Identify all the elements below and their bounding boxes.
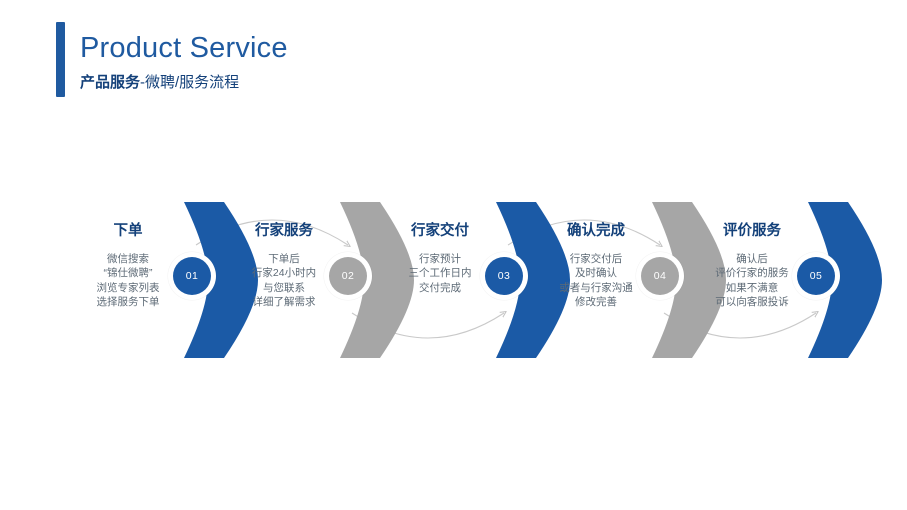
flow-step-3-badge[interactable]: 03 [480,252,528,300]
flow-step-4-badge[interactable]: 04 [636,252,684,300]
flow-step-5-text: 评价服务 确认后 评价行家的服务 如果不满意 可以向客服投诉 [696,224,808,310]
flow-step-5-description: 确认后 评价行家的服务 如果不满意 可以向客服投诉 [696,252,808,310]
flow-step-2[interactable]: 行家服务 下单后 行家24小时内 与您联系 详细了解需求 02 [228,190,388,370]
flow-step-4-line-1: 行家交付后 [540,252,652,267]
flow-step-4-line-3: 或者与行家沟通 [540,281,652,296]
flow-step-2-title: 行家服务 [228,224,340,239]
page-header: Product Service 产品服务-微聘/服务流程 [56,22,616,100]
flow-step-4-line-4: 修改完善 [540,295,652,310]
flow-step-2-badge-disc: 02 [329,257,367,295]
flow-step-4[interactable]: 确认完成 行家交付后 及时确认 或者与行家沟通 修改完善 04 [540,190,700,370]
page-title: Product Service [80,34,288,63]
header-accent-bar [56,22,65,97]
page-subtitle: 产品服务-微聘/服务流程 [80,75,239,91]
flow-step-2-badge[interactable]: 02 [324,252,372,300]
flow-step-4-description: 行家交付后 及时确认 或者与行家沟通 修改完善 [540,252,652,310]
flow-step-1[interactable]: 下单 微信搜索 “锦仕微聘” 浏览专家列表 选择服务下单 01 [72,190,232,370]
flow-step-3-number: 03 [498,271,510,282]
flow-step-4-number: 04 [654,271,666,282]
flow-step-5-badge[interactable]: 05 [792,252,840,300]
flow-step-1-description: 微信搜索 “锦仕微聘” 浏览专家列表 选择服务下单 [72,252,184,310]
flow-step-4-badge-disc: 04 [641,257,679,295]
flow-step-3[interactable]: 行家交付 行家预计 三个工作日内 交付完成 03 [384,190,544,370]
flow-step-5-line-3: 如果不满意 [696,281,808,296]
flow-step-1-line-3: 浏览专家列表 [72,281,184,296]
flow-step-4-text: 确认完成 行家交付后 及时确认 或者与行家沟通 修改完善 [540,224,652,310]
flow-step-3-badge-disc: 03 [485,257,523,295]
flow-step-5-line-1: 确认后 [696,252,808,267]
flow-step-2-description: 下单后 行家24小时内 与您联系 详细了解需求 [228,252,340,310]
flow-step-1-badge-disc: 01 [173,257,211,295]
flow-step-5-number: 05 [810,271,822,282]
flow-step-5-line-4: 可以向客服投诉 [696,295,808,310]
flow-step-1-text: 下单 微信搜索 “锦仕微聘” 浏览专家列表 选择服务下单 [72,224,184,310]
flow-step-3-title: 行家交付 [384,224,496,239]
flow-step-1-number: 01 [186,271,198,282]
flow-step-3-line-3: 交付完成 [384,281,496,296]
flow-step-1-line-4: 选择服务下单 [72,295,184,310]
flow-step-2-line-1: 下单后 [228,252,340,267]
page-subtitle-primary: 产品服务 [80,74,140,91]
page-subtitle-secondary: -微聘/服务流程 [140,74,239,91]
flow-step-5-title: 评价服务 [696,224,808,239]
flow-step-3-line-1: 行家预计 [384,252,496,267]
flow-step-1-line-1: 微信搜索 [72,252,184,267]
service-flow-diagram: 下单 微信搜索 “锦仕微聘” 浏览专家列表 选择服务下单 01 行家服务 下单后 [0,190,907,370]
flow-step-1-title: 下单 [72,224,184,239]
flow-step-2-number: 02 [342,271,354,282]
flow-step-5-badge-disc: 05 [797,257,835,295]
flow-step-4-title: 确认完成 [540,224,652,239]
flow-step-2-line-3: 与您联系 [228,281,340,296]
flow-step-2-text: 行家服务 下单后 行家24小时内 与您联系 详细了解需求 [228,224,340,310]
flow-step-2-line-4: 详细了解需求 [228,295,340,310]
flow-step-5[interactable]: 评价服务 确认后 评价行家的服务 如果不满意 可以向客服投诉 05 [696,190,856,370]
flow-step-3-text: 行家交付 行家预计 三个工作日内 交付完成 [384,224,496,295]
flow-step-1-badge[interactable]: 01 [168,252,216,300]
